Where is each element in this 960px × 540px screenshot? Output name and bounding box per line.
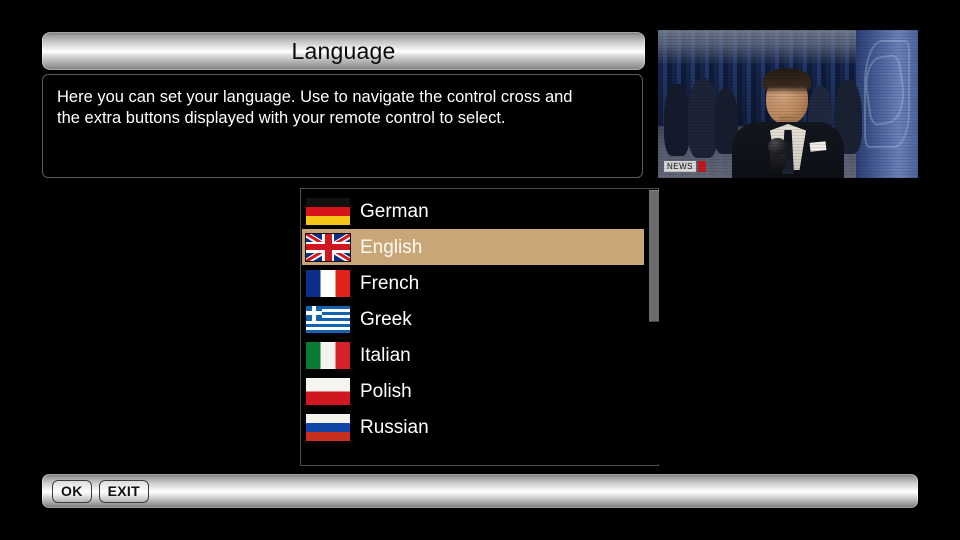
window-title-bar: Language	[42, 32, 645, 70]
exit-button[interactable]: EXIT	[99, 480, 149, 503]
language-list-item-label: German	[360, 202, 429, 221]
language-list-item-label: English	[360, 238, 422, 257]
page-title: Language	[292, 40, 396, 63]
language-list-item[interactable]: French	[302, 265, 644, 301]
flag-italy-icon	[306, 342, 350, 369]
scrollbar-thumb[interactable]	[649, 190, 659, 322]
video-preview[interactable]: NEWS	[658, 30, 918, 178]
language-list-item[interactable]: Russian	[302, 409, 644, 445]
language-list-item-label: Russian	[360, 418, 429, 437]
flag-germany-icon	[306, 198, 350, 225]
description-panel: Here you can set your language. Use to n…	[42, 74, 643, 178]
preview-wall-relief	[856, 30, 918, 178]
flag-greece-icon	[306, 306, 350, 333]
tv-settings-screen: Language Here you can set your language.…	[0, 0, 960, 540]
channel-logo-bug: NEWS	[664, 160, 750, 173]
language-list-item-label: Polish	[360, 382, 412, 401]
language-list-item-label: French	[360, 274, 419, 293]
language-list-item-label: Italian	[360, 346, 411, 365]
channel-bug-label: NEWS	[664, 161, 696, 172]
language-list-item[interactable]: Polish	[302, 373, 644, 409]
flag-united-kingdom-icon	[306, 234, 350, 261]
preview-microphone-head	[768, 138, 787, 155]
language-list[interactable]: GermanEnglishFrenchGreekItalianPolishRus…	[302, 193, 644, 445]
flag-detail	[306, 311, 322, 315]
exit-button-label: EXIT	[108, 483, 140, 499]
preview-crowd-a	[664, 84, 690, 156]
language-list-item-label: Greek	[360, 310, 412, 329]
flag-russia-icon	[306, 414, 350, 441]
preview-pocket-square	[810, 141, 827, 152]
flag-france-icon	[306, 270, 350, 297]
language-list-item[interactable]: English	[302, 229, 644, 265]
ok-button-label: OK	[61, 483, 83, 499]
channel-bug-accent	[698, 161, 706, 172]
flag-detail	[306, 244, 350, 250]
flag-poland-icon	[306, 378, 350, 405]
language-list-item[interactable]: German	[302, 193, 644, 229]
language-list-item[interactable]: Greek	[302, 301, 644, 337]
description-text: Here you can set your language. Use to n…	[57, 87, 628, 129]
language-list-item[interactable]: Italian	[302, 337, 644, 373]
language-list-panel: GermanEnglishFrenchGreekItalianPolishRus…	[300, 188, 659, 466]
preview-reporter-hair	[763, 68, 811, 94]
language-list-scrollbar[interactable]	[649, 190, 659, 464]
softkey-bar: OK EXIT	[42, 474, 918, 508]
preview-wall-relief-detail	[861, 54, 908, 127]
ok-button[interactable]: OK	[52, 480, 92, 503]
